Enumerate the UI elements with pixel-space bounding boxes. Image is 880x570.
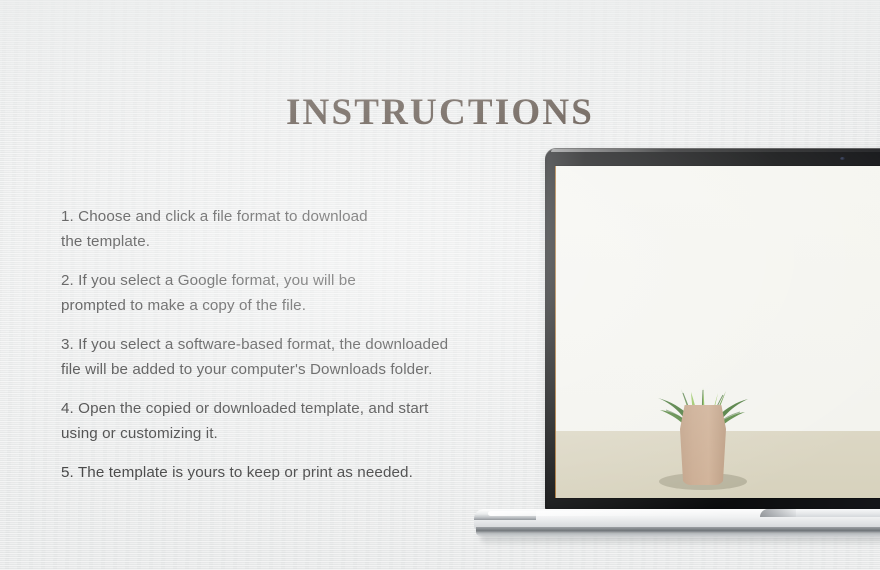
- page-title: INSTRUCTIONS: [0, 92, 880, 134]
- laptop-base-shadow: [480, 535, 880, 546]
- list-item: 2. If you select a Google format, you wi…: [61, 268, 501, 318]
- laptop-mockup: [474, 148, 880, 548]
- laptop-screen: [556, 166, 880, 498]
- list-item: 4. Open the copied or downloaded templat…: [61, 396, 501, 446]
- list-item: 5. The template is yours to keep or prin…: [61, 460, 501, 485]
- plant-pot: [680, 405, 726, 485]
- webcam-icon: [840, 157, 845, 160]
- lid-highlight: [551, 149, 880, 152]
- instructions-page: INSTRUCTIONS 1. Choose and click a file …: [0, 0, 880, 570]
- laptop-base-highlight: [488, 511, 738, 516]
- instruction-list: 1. Choose and click a file format to dow…: [61, 204, 501, 485]
- laptop-base-notch-shadow: [760, 509, 796, 517]
- list-item: 1. Choose and click a file format to dow…: [61, 204, 501, 254]
- list-item: 3. If you select a software-based format…: [61, 332, 501, 382]
- potted-plant-illustration: [642, 379, 762, 498]
